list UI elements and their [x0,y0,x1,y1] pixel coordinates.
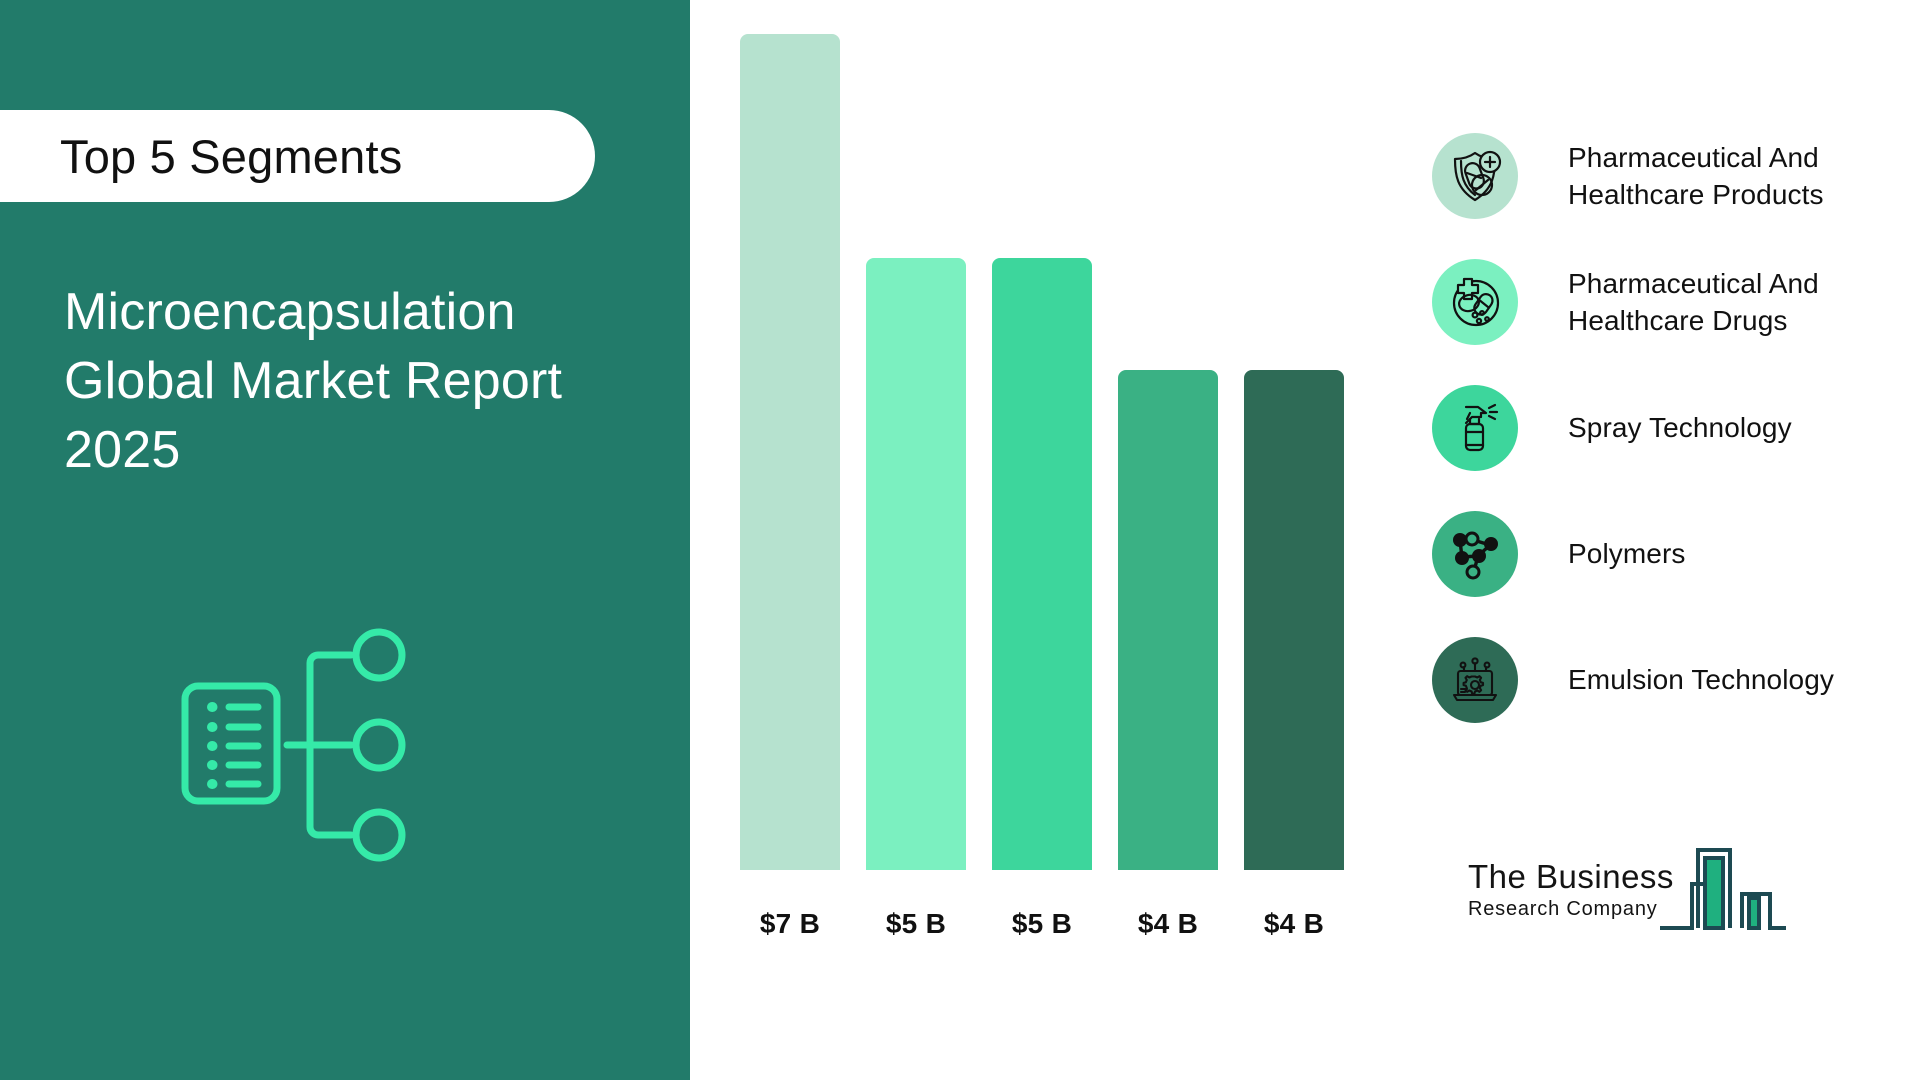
top-segments-badge: Top 5 Segments [0,110,595,202]
bar-chart: $7 B $5 B $5 B $4 B $4 B [740,0,1420,1080]
bar-column [992,258,1092,870]
legend-item-pharmaceutical-healthcare-drugs: Pharmaceutical And Healthcare Drugs [1432,254,1902,350]
company-logo: The Business Research Company [1468,836,1798,956]
chart-legend: Pharmaceutical And Healthcare Products P… [1432,128,1902,758]
bar-value-label-4: $4 B [1118,908,1218,940]
molecule-icon [1432,511,1518,597]
spray-bottle-icon [1432,385,1518,471]
bar-chart-bars [740,30,1420,870]
logo-line-1: The Business [1468,858,1674,896]
bar-5 [1244,370,1344,870]
logo-text: The Business Research Company [1468,858,1674,921]
bar-1 [740,34,840,870]
bar-value-labels: $7 B $5 B $5 B $4 B $4 B [740,908,1420,940]
bar-column [866,258,966,870]
logo-line-2: Research Company [1468,898,1674,921]
bar-4 [1118,370,1218,870]
legend-item-emulsion-technology: Emulsion Technology [1432,632,1902,728]
bar-3 [992,258,1092,870]
legend-label: Pharmaceutical And Healthcare Products [1568,139,1902,213]
page-title: Microencapsulation Global Market Report … [64,278,664,485]
left-panel: Top 5 Segments Microencapsulation Global… [0,0,690,1080]
pills-cross-icon [1432,259,1518,345]
infographic-root: Top 5 Segments Microencapsulation Global… [0,0,1920,1080]
legend-label: Spray Technology [1568,409,1792,446]
badge-label: Top 5 Segments [60,129,402,184]
bar-column [1244,370,1344,870]
segmentation-tree-icon [165,612,425,877]
legend-label: Polymers [1568,535,1686,572]
bar-value-label-2: $5 B [866,908,966,940]
bar-column [1118,370,1218,870]
bar-column [740,34,840,870]
legend-label: Pharmaceutical And Healthcare Drugs [1568,265,1902,339]
shield-pills-icon [1432,133,1518,219]
bar-2 [866,258,966,870]
legend-item-pharmaceutical-healthcare-products: Pharmaceutical And Healthcare Products [1432,128,1902,224]
bar-value-label-3: $5 B [992,908,1092,940]
bar-chart-logo-icon [1658,836,1788,941]
bar-value-label-1: $7 B [740,908,840,940]
legend-item-spray-technology: Spray Technology [1432,380,1902,476]
bar-value-label-5: $4 B [1244,908,1344,940]
legend-label: Emulsion Technology [1568,661,1834,698]
laptop-gear-icon [1432,637,1518,723]
legend-item-polymers: Polymers [1432,506,1902,602]
